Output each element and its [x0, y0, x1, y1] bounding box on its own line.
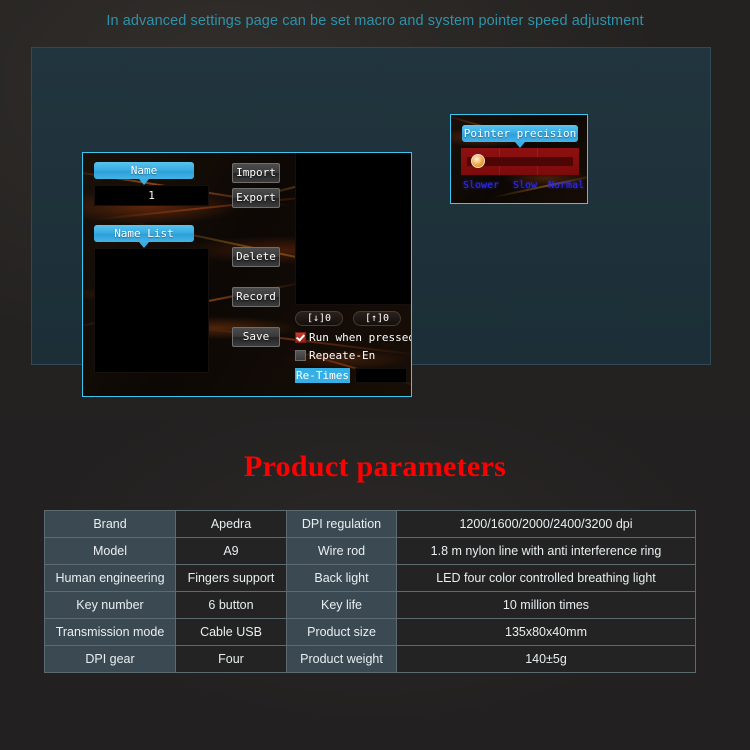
param-value: 10 million times — [397, 592, 696, 619]
param-value: A9 — [176, 538, 287, 565]
product-parameters-title: Product parameters — [0, 450, 750, 484]
slider-label-slower: Slower — [463, 180, 499, 191]
key-list-box[interactable] — [295, 152, 412, 305]
key-down-count: [↓]0 — [295, 311, 343, 326]
name-input[interactable]: 1 — [94, 185, 209, 206]
table-row: Brand Apedra DPI regulation 1200/1600/20… — [45, 511, 696, 538]
repeat-en-row[interactable]: Repeate-En — [295, 349, 375, 362]
param-key: Human engineering — [45, 565, 176, 592]
export-button[interactable]: Export — [232, 188, 280, 208]
param-key: Product size — [287, 619, 397, 646]
repeat-en-checkbox[interactable] — [295, 350, 306, 361]
param-key: Key number — [45, 592, 176, 619]
import-button[interactable]: Import — [232, 163, 280, 183]
param-key: Brand — [45, 511, 176, 538]
delete-button[interactable]: Delete — [232, 247, 280, 267]
slider-label-normal: Normal — [548, 180, 584, 191]
param-value: 1.8 m nylon line with anti interference … — [397, 538, 696, 565]
param-key: Wire rod — [287, 538, 397, 565]
pointer-precision-panel: Pointer precision Slower Slow Normal — [450, 114, 588, 204]
repeat-en-label: Repeate-En — [309, 349, 375, 362]
name-tab-label: Name — [94, 162, 194, 179]
table-row: Model A9 Wire rod 1.8 m nylon line with … — [45, 538, 696, 565]
param-key: DPI regulation — [287, 511, 397, 538]
slider-knob[interactable] — [471, 154, 485, 168]
run-when-pressed-label: Run when pressed — [309, 331, 412, 344]
pointer-speed-slider[interactable] — [461, 148, 579, 175]
table-row: DPI gear Four Product weight 140±5g — [45, 646, 696, 673]
param-key: DPI gear — [45, 646, 176, 673]
param-key: Back light — [287, 565, 397, 592]
param-value: 135x80x40mm — [397, 619, 696, 646]
save-button[interactable]: Save — [232, 327, 280, 347]
param-value: Four — [176, 646, 287, 673]
param-key: Transmission mode — [45, 619, 176, 646]
name-list-box[interactable] — [94, 248, 209, 373]
table-row: Transmission mode Cable USB Product size… — [45, 619, 696, 646]
product-parameters-table: Brand Apedra DPI regulation 1200/1600/20… — [44, 510, 696, 673]
name-list-tab-label: Name List — [94, 225, 194, 242]
re-times-input[interactable] — [355, 368, 407, 383]
param-value: Apedra — [176, 511, 287, 538]
slider-label-slow: Slow — [513, 180, 537, 191]
param-value: LED four color controlled breathing ligh… — [397, 565, 696, 592]
param-key: Product weight — [287, 646, 397, 673]
run-when-pressed-row[interactable]: Run when pressed — [295, 331, 412, 344]
key-up-count: [↑]0 — [353, 311, 401, 326]
param-value: 1200/1600/2000/2400/3200 dpi — [397, 511, 696, 538]
re-times-button[interactable]: Re-Times — [295, 368, 350, 383]
param-value: 140±5g — [397, 646, 696, 673]
run-when-pressed-checkbox[interactable] — [295, 332, 306, 343]
macro-editor-panel: Name 1 Name List Import Export Delete Re… — [82, 152, 412, 397]
param-key: Key life — [287, 592, 397, 619]
param-value: Fingers support — [176, 565, 287, 592]
param-key: Model — [45, 538, 176, 565]
param-value: 6 button — [176, 592, 287, 619]
pointer-precision-tab-label: Pointer precision — [462, 125, 578, 142]
advanced-settings-section: In advanced settings page can be set mac… — [0, 0, 750, 418]
software-window: Name 1 Name List Import Export Delete Re… — [31, 47, 711, 365]
table-row: Human engineering Fingers support Back l… — [45, 565, 696, 592]
table-body: Brand Apedra DPI regulation 1200/1600/20… — [45, 511, 696, 673]
table-row: Key number 6 button Key life 10 million … — [45, 592, 696, 619]
product-parameters-section: Product parameters Brand Apedra DPI regu… — [0, 418, 750, 750]
record-button[interactable]: Record — [232, 287, 280, 307]
headline-text: In advanced settings page can be set mac… — [0, 13, 750, 29]
param-value: Cable USB — [176, 619, 287, 646]
